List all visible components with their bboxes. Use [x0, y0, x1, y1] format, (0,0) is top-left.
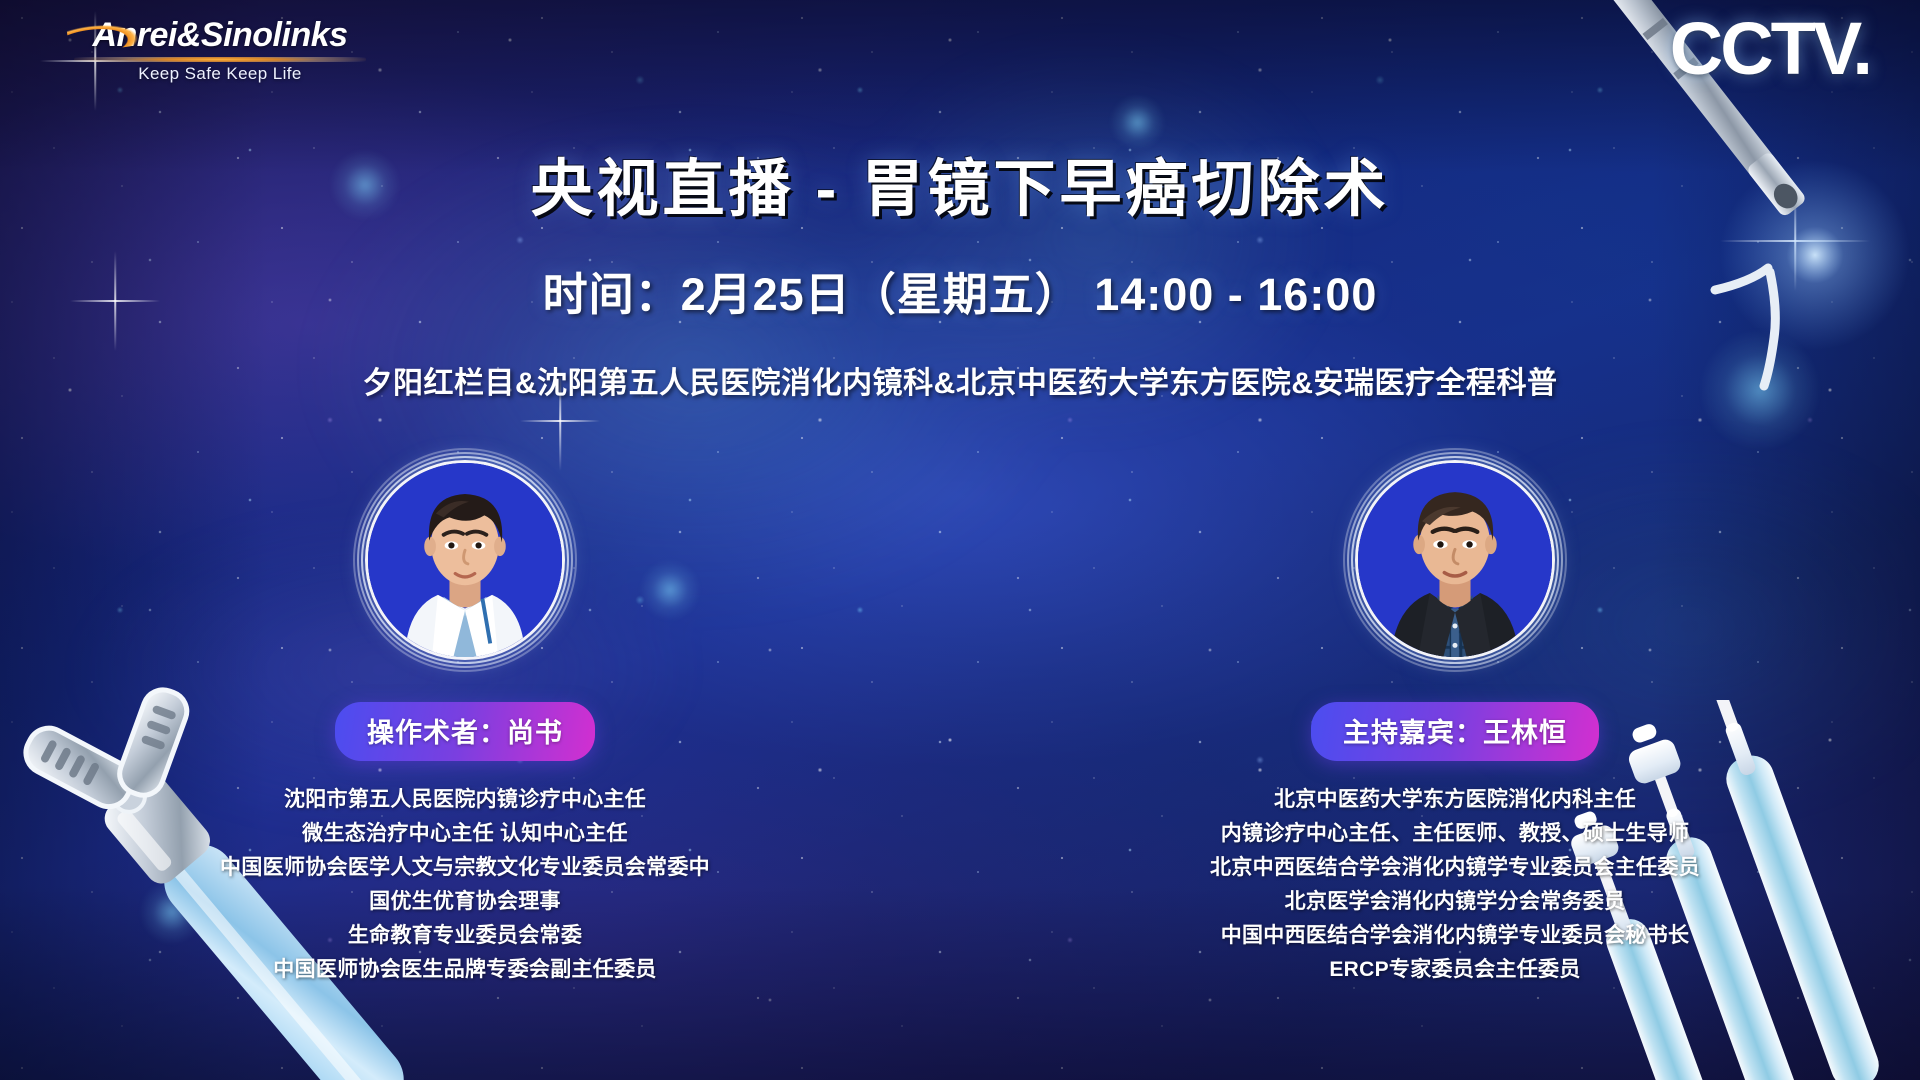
- credential-line: 北京医学会消化内镜学分会常务委员: [1135, 885, 1775, 919]
- sparkle: [1720, 240, 1870, 242]
- logo-wordmark: Anrei&Sinolinks: [70, 18, 370, 54]
- credential-line: 北京中医药大学东方医院消化内科主任: [1135, 783, 1775, 817]
- speaker-credentials: 北京中医药大学东方医院消化内科主任 内镜诊疗中心主任、主任医师、教授、硕士生导师…: [1135, 783, 1775, 987]
- avatar: [365, 460, 565, 660]
- credential-line: ERCP专家委员会主任委员: [1135, 953, 1775, 987]
- credential-line: 国优生优育协会理事: [145, 885, 785, 919]
- speaker-credentials: 沈阳市第五人民医院内镜诊疗中心主任 微生态治疗中心主任 认知中心主任 中国医师协…: [145, 783, 785, 987]
- speaker-role-badge: 主持嘉宾：王林恒: [1311, 702, 1599, 761]
- avatar-photo-host: [1358, 463, 1552, 657]
- credential-line: 内镜诊疗中心主任、主任医师、教授、硕士生导师: [1135, 817, 1775, 851]
- credential-line: 生命教育专业委员会常委: [145, 919, 785, 953]
- speaker-card-operator: 操作术者：尚书 沈阳市第五人民医院内镜诊疗中心主任 微生态治疗中心主任 认知中心…: [145, 460, 785, 987]
- speaker-card-host: 主持嘉宾：王林恒 北京中医药大学东方医院消化内科主任 内镜诊疗中心主任、主任医师…: [1135, 460, 1775, 987]
- organizers-line: 夕阳红栏目&沈阳第五人民医院消化内镜科&北京中医药大学东方医院&安瑞医疗全程科普: [0, 358, 1920, 402]
- cctv-logo: CCTV.: [1670, 12, 1870, 86]
- credential-line: 微生态治疗中心主任 认知中心主任: [145, 817, 785, 851]
- avatar-photo-operator: [368, 463, 562, 657]
- sparkle: [520, 420, 600, 422]
- logo-tagline: Keep Safe Keep Life: [70, 64, 370, 84]
- page-title: 央视直播 - 胃镜下早癌切除术: [0, 138, 1920, 228]
- logo-divider: [74, 57, 366, 62]
- credential-line: 北京中西医结合学会消化内镜学专业委员会主任委员: [1135, 851, 1775, 885]
- live-broadcast-poster: Anrei&Sinolinks Keep Safe Keep Life CCTV…: [0, 0, 1920, 1080]
- credential-line: 中国中西医结合学会消化内镜学专业委员会秘书长: [1135, 919, 1775, 953]
- credential-line: 中国医师协会医学人文与宗教文化专业委员会常委中: [145, 851, 785, 885]
- credential-line: 中国医师协会医生品牌专委会副主任委员: [145, 953, 785, 987]
- avatar: [1355, 460, 1555, 660]
- speaker-role-badge: 操作术者：尚书: [335, 702, 595, 761]
- broadcast-time: 时间：2月25日（星期五） 14:00 - 16:00: [0, 258, 1920, 323]
- credential-line: 沈阳市第五人民医院内镜诊疗中心主任: [145, 783, 785, 817]
- sponsor-logo: Anrei&Sinolinks Keep Safe Keep Life: [70, 18, 370, 84]
